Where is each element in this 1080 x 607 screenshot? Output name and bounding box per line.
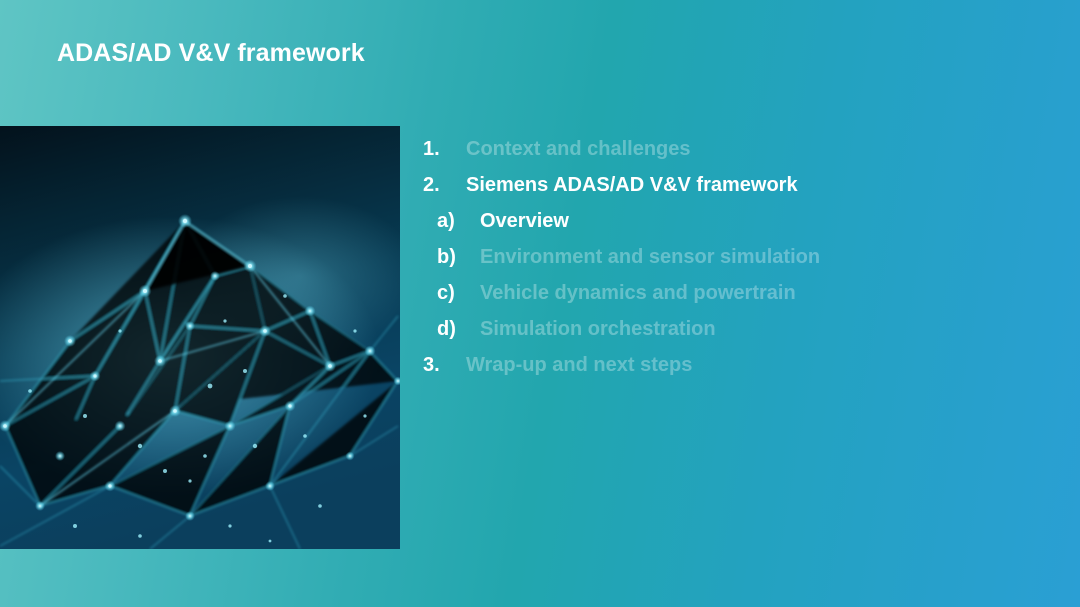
agenda-marker: a)	[437, 210, 480, 233]
agenda-label: Context and challenges	[466, 138, 691, 161]
agenda-marker: b)	[437, 246, 480, 269]
agenda-item-2b[interactable]: b) Environment and sensor simulation	[423, 239, 1023, 275]
agenda-marker: 3.	[423, 354, 466, 377]
agenda-list: 1. Context and challenges 2. Siemens ADA…	[423, 131, 1023, 383]
agenda-label: Overview	[480, 210, 569, 233]
network-mesh-graphic	[0, 126, 400, 549]
page-title: ADAS/AD V&V framework	[57, 39, 365, 68]
agenda-label: Vehicle dynamics and powertrain	[480, 282, 796, 305]
agenda-item-2d[interactable]: d) Simulation orchestration	[423, 311, 1023, 347]
agenda-marker: 2.	[423, 174, 466, 197]
abstract-network-mesh-image	[0, 126, 400, 549]
agenda-marker: d)	[437, 318, 480, 341]
agenda-item-3[interactable]: 3. Wrap-up and next steps	[423, 347, 1023, 383]
agenda-label: Wrap-up and next steps	[466, 354, 692, 377]
agenda-item-1[interactable]: 1. Context and challenges	[423, 131, 1023, 167]
agenda-item-2[interactable]: 2. Siemens ADAS/AD V&V framework	[423, 167, 1023, 203]
agenda-label: Siemens ADAS/AD V&V framework	[466, 174, 798, 197]
agenda-item-2c[interactable]: c) Vehicle dynamics and powertrain	[423, 275, 1023, 311]
agenda-marker: 1.	[423, 138, 466, 161]
agenda-item-2a[interactable]: a) Overview	[423, 203, 1023, 239]
agenda-marker: c)	[437, 282, 480, 305]
agenda-label: Simulation orchestration	[480, 318, 716, 341]
agenda-label: Environment and sensor simulation	[480, 246, 820, 269]
presentation-slide: ADAS/AD V&V framework	[0, 0, 1080, 607]
